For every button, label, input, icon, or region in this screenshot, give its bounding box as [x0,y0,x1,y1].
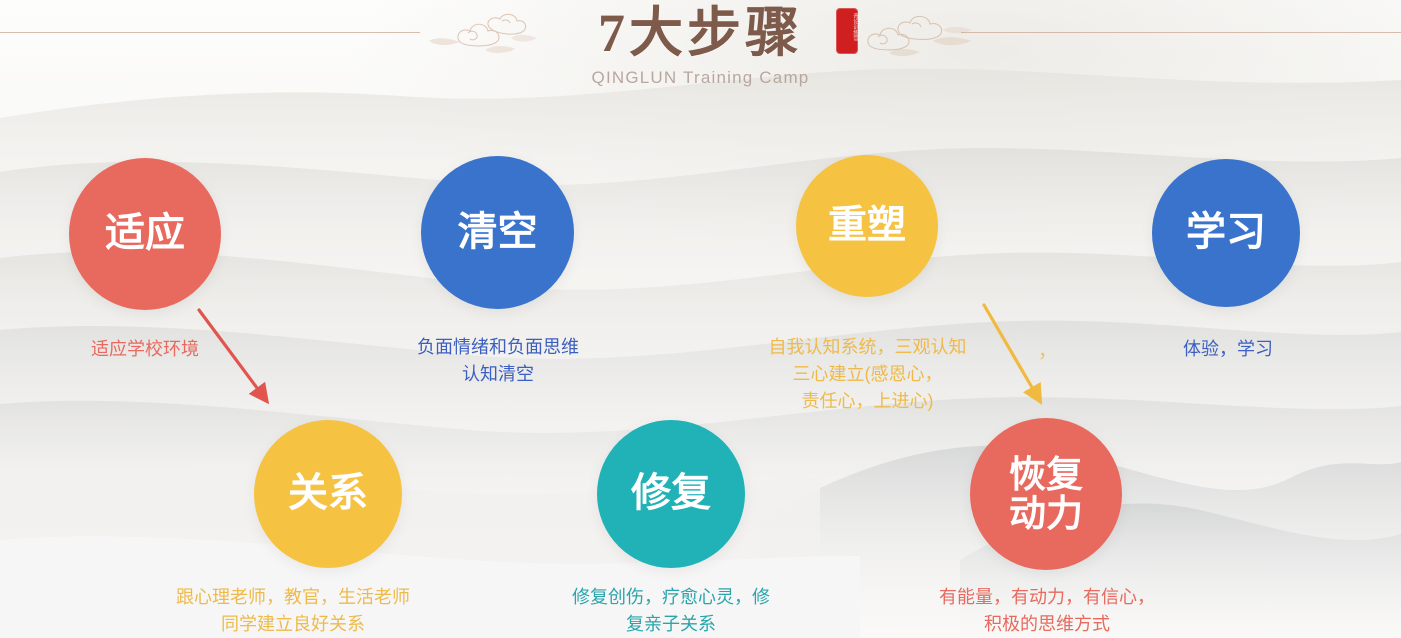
step-bubble-1[interactable]: 适应 [69,158,221,310]
step-caption-5: 自我认知系统，三观认知 三心建立(感恩心， 责任心，上进心) [745,334,990,415]
step-label-6: 恢复 动力 [1009,455,1083,533]
step-bubble-6[interactable]: 恢复 动力 [970,418,1122,570]
page-subtitle: QINGLUN Training Camp [0,68,1401,88]
step-bubble-2[interactable]: 关系 [254,420,402,568]
step-caption-6: 有能量，有动力，有信心， 积极的思维方式 [908,584,1186,638]
step-bubble-4[interactable]: 修复 [597,420,745,568]
step-caption-1: 适应学校环境 [35,336,255,363]
step-label-5: 重塑 [828,205,906,247]
stray-comma: ， [1038,336,1057,363]
step-label-4: 修复 [631,472,711,515]
slide-canvas: 青论训练营 7大步骤 QINGLUN Training Camp ， 适应 适应… [0,0,1401,638]
step-label-3: 清空 [458,211,538,254]
header: 青论训练营 7大步骤 QINGLUN Training Camp [0,0,1401,110]
step-label-1: 适应 [105,212,185,255]
step-caption-7: 体验，学习 [1130,336,1326,363]
step-caption-2: 跟心理老师，教官，生活老师 同学建立良好关系 [128,584,458,638]
page-title: 7大步骤 [0,2,1401,64]
step-label-2: 关系 [288,472,368,515]
step-bubble-7[interactable]: 学习 [1152,159,1300,307]
step-caption-4: 修复创伤，疗愈心灵，修 复亲子关系 [528,584,814,638]
step-caption-3: 负面情绪和负面思维 认知清空 [367,334,629,388]
step-bubble-5[interactable]: 重塑 [796,155,938,297]
step-bubble-3[interactable]: 清空 [421,156,574,309]
step-label-7: 学习 [1186,211,1266,254]
